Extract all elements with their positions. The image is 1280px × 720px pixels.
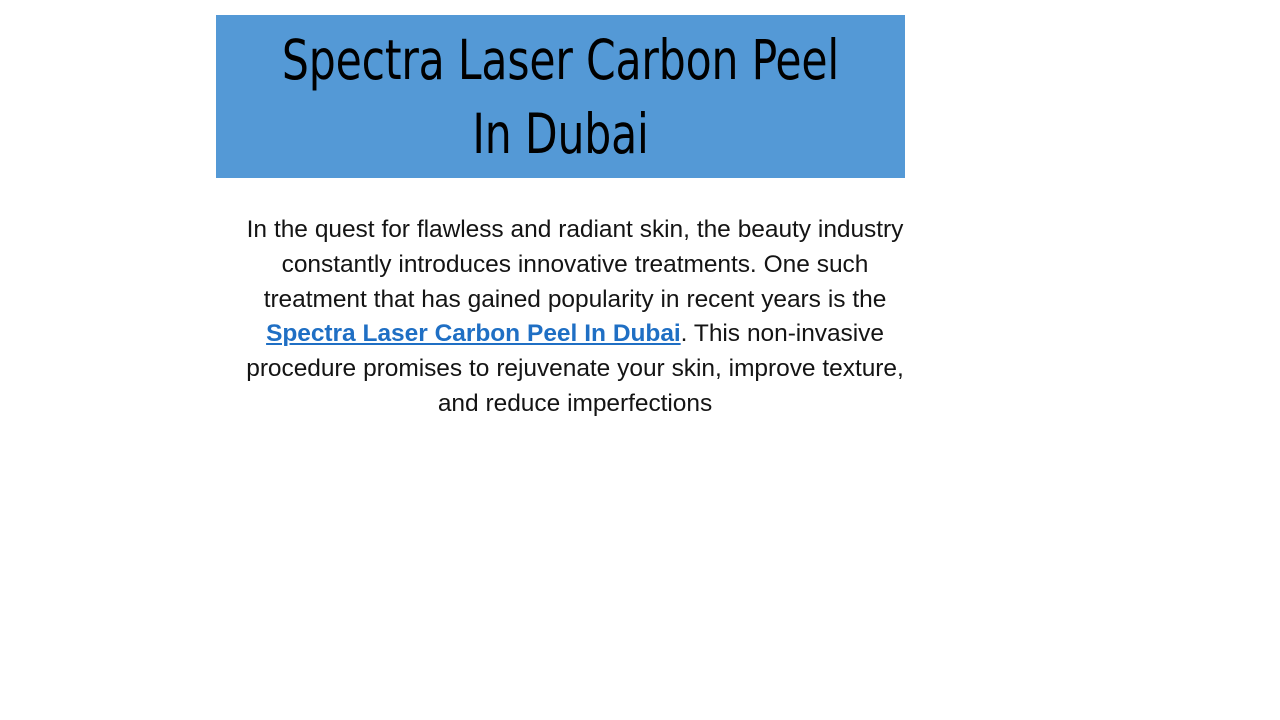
body-paragraph: In the quest for flawless and radiant sk… <box>228 213 922 422</box>
slide-canvas: Spectra Laser Carbon Peel In Dubai In th… <box>0 0 1280 720</box>
body-text-block: In the quest for flawless and radiant sk… <box>228 213 922 422</box>
empty-content-area <box>0 470 1280 720</box>
body-text-before-link: In the quest for flawless and radiant sk… <box>247 216 904 313</box>
spectra-laser-carbon-peel-link[interactable]: Spectra Laser Carbon Peel In Dubai <box>266 320 681 347</box>
title-banner: Spectra Laser Carbon Peel In Dubai <box>216 15 905 178</box>
page-title: Spectra Laser Carbon Peel In Dubai <box>273 23 848 171</box>
